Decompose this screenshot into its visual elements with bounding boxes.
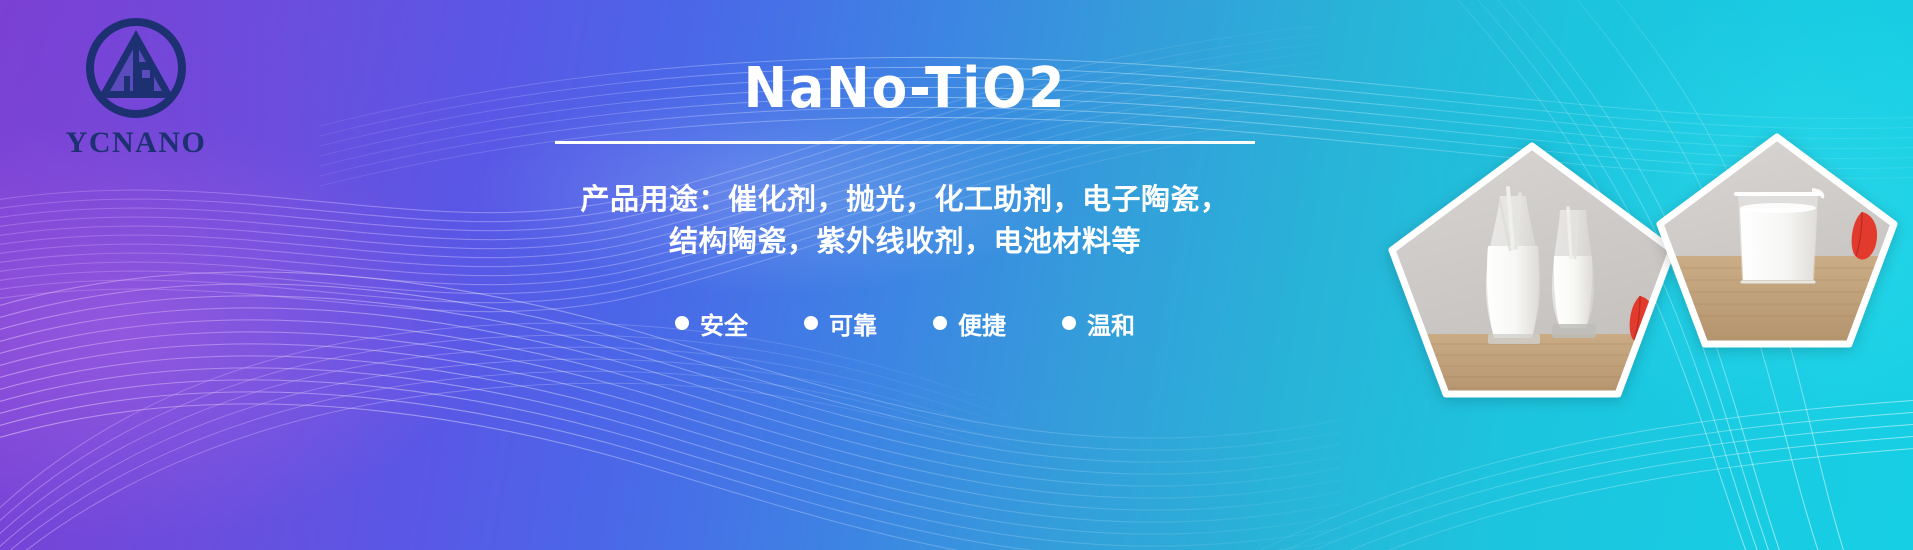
feature-item-reliable: 可靠 bbox=[804, 306, 877, 341]
dot-icon bbox=[933, 316, 947, 330]
pentagon-photo-beaker-suspension[interactable] bbox=[1652, 130, 1902, 352]
ycnano-triangle-circle-logo bbox=[76, 14, 196, 126]
feature-item-convenient: 便捷 bbox=[933, 306, 1006, 341]
page-title: NaNo-TiO2 bbox=[519, 60, 1291, 119]
pentagon-photo-white-vases[interactable] bbox=[1382, 138, 1682, 403]
usage-line-1: 产品用途：催化剂，抛光，化工助剂，电子陶瓷， bbox=[490, 178, 1320, 220]
feature-label: 便捷 bbox=[958, 306, 1006, 341]
dot-icon bbox=[675, 316, 689, 330]
brand-logo[interactable]: YCNANO bbox=[48, 14, 224, 158]
title-divider bbox=[555, 141, 1255, 144]
feature-item-mild: 温和 bbox=[1062, 306, 1135, 341]
product-banner: YCNANO NaNo-TiO2 产品用途：催化剂，抛光，化工助剂，电子陶瓷， … bbox=[0, 0, 1913, 550]
dot-icon bbox=[1062, 316, 1076, 330]
brand-wordmark: YCNANO bbox=[48, 128, 224, 158]
feature-label: 可靠 bbox=[829, 306, 877, 341]
feature-label: 温和 bbox=[1087, 306, 1135, 341]
feature-item-safe: 安全 bbox=[675, 306, 748, 341]
dot-icon bbox=[804, 316, 818, 330]
feature-list: 安全 可靠 便捷 温和 bbox=[490, 306, 1320, 341]
banner-copy: NaNo-TiO2 产品用途：催化剂，抛光，化工助剂，电子陶瓷， 结构陶瓷，紫外… bbox=[490, 60, 1320, 341]
usage-line-2: 结构陶瓷，紫外线收剂，电池材料等 bbox=[490, 220, 1320, 262]
product-usage-text: 产品用途：催化剂，抛光，化工助剂，电子陶瓷， 结构陶瓷，紫外线收剂，电池材料等 bbox=[490, 178, 1320, 262]
feature-label: 安全 bbox=[700, 306, 748, 341]
